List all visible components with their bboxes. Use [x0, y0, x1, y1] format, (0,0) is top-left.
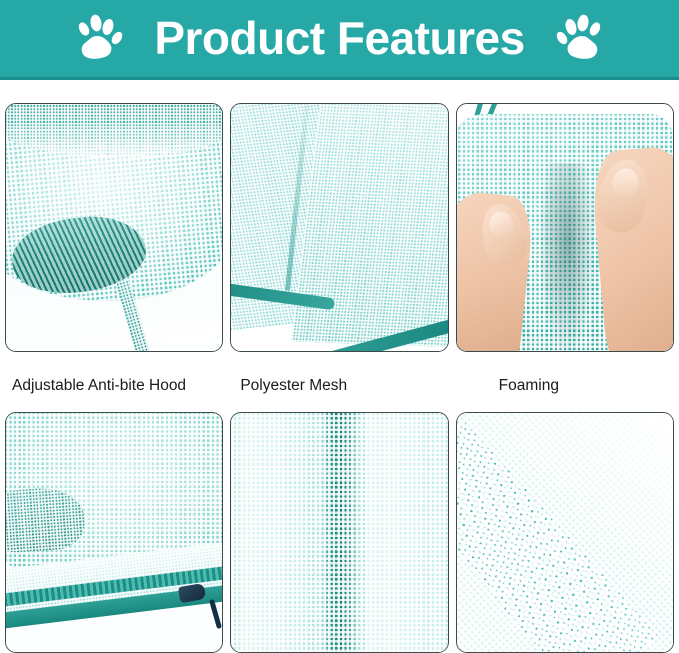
caption-adjustable-anti-bite-hood: Adjustable Anti-bite Hood [5, 368, 187, 404]
mesh-photo [457, 413, 673, 652]
caption-foaming: Foaming [423, 368, 674, 404]
mesh-photo-with-hands [457, 104, 673, 351]
mesh-photo [6, 413, 222, 652]
gallery-row-top [0, 103, 679, 352]
feature-image-mesh-macro[interactable] [456, 412, 674, 653]
feature-image-zipper-closure[interactable] [5, 412, 223, 653]
mesh-photo [6, 104, 222, 351]
paw-print-icon [74, 13, 128, 65]
feature-gallery: Adjustable Anti-bite Hood Polyester Mesh… [0, 80, 679, 653]
paw-print-icon [551, 13, 605, 65]
caption-polyester-mesh: Polyester Mesh [194, 368, 415, 404]
gallery-row-bottom [0, 412, 679, 653]
mesh-photo [231, 413, 447, 652]
feature-image-polyester-mesh[interactable] [230, 103, 448, 352]
feature-captions: Adjustable Anti-bite Hood Polyester Mesh… [0, 368, 679, 404]
product-features-banner: Product Features [0, 0, 679, 80]
feature-image-seam-detail[interactable] [230, 412, 448, 653]
feature-image-adjustable-anti-bite-hood[interactable] [5, 103, 223, 352]
page-title: Product Features [154, 15, 524, 61]
feature-image-foaming[interactable] [456, 103, 674, 352]
mesh-photo [231, 104, 447, 351]
